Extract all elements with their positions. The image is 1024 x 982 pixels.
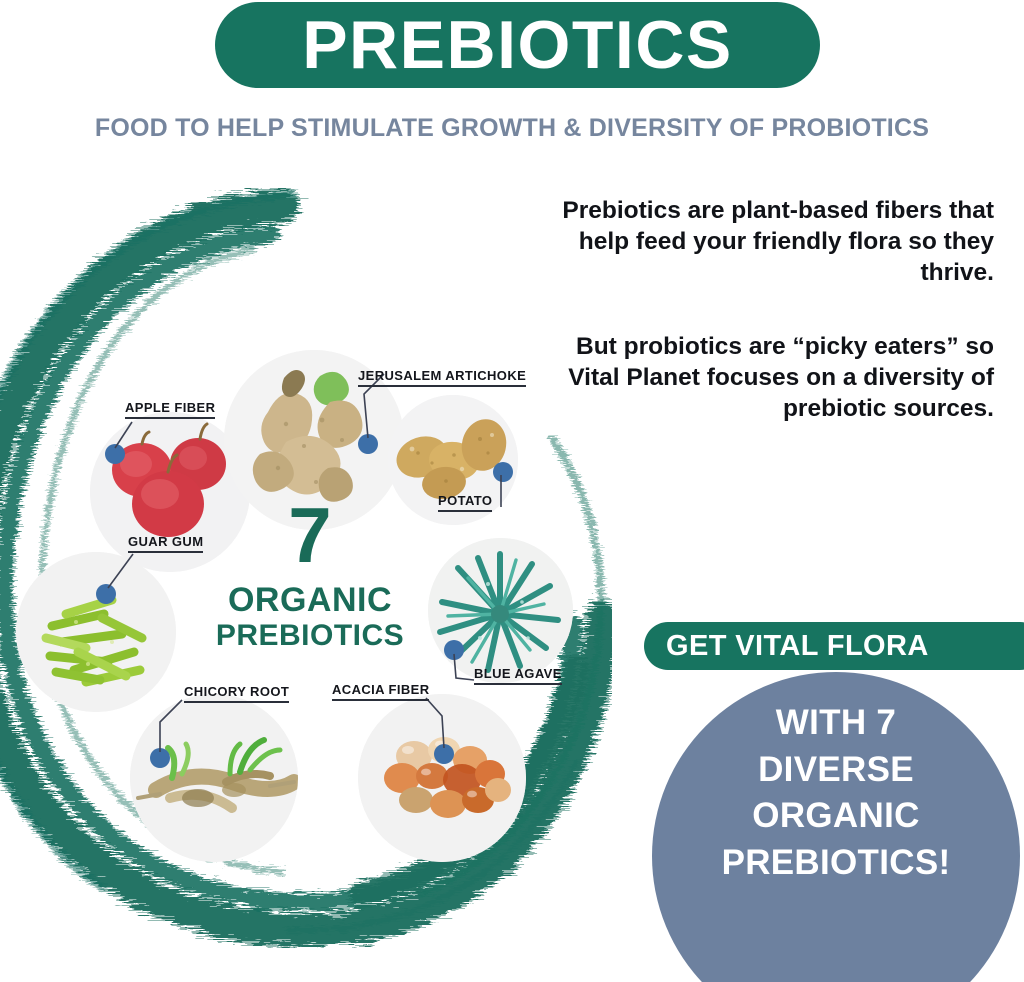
chicory-root-marker-dot (150, 748, 170, 768)
cta-line-4: PREBIOTICS! (652, 840, 1020, 887)
body-paragraph-2: But probiotics are “picky eaters” so Vit… (530, 332, 994, 425)
acacia-fiber-photo (358, 694, 526, 862)
blue-agave-marker-dot (444, 640, 464, 660)
guar-gum-label: GUAR GUM (128, 534, 203, 553)
guar-gum-marker-dot (96, 584, 116, 604)
apple-fiber-label: APPLE FIBER (125, 400, 215, 419)
infographic-canvas: PREBIOTICS FOOD TO HELP STIMULATE GROWTH… (0, 0, 1024, 982)
acacia-fiber-label: ACACIA FIBER (332, 682, 429, 701)
cta-line-3: ORGANIC (652, 793, 1020, 840)
potato-label: POTATO (438, 493, 492, 512)
ingredient-blue-agave: BLUE AGAVE (428, 538, 628, 698)
cta-line-2: DIVERSE (652, 747, 1020, 794)
jerusalem-artichoke-marker-dot (358, 434, 378, 454)
title-pill: PREBIOTICS (215, 2, 820, 88)
acacia-fiber-marker-dot (434, 744, 454, 764)
jerusalem-artichoke-label: JERUSALEM ARTICHOKE (358, 368, 526, 387)
potato-marker-dot (493, 462, 513, 482)
center-count: 7 (230, 500, 390, 572)
chicory-root-photo (130, 694, 298, 862)
ingredient-acacia-fiber: ACACIA FIBER (330, 680, 560, 860)
apple-fiber-marker-dot (105, 444, 125, 464)
cta-badge-text: WITH 7 DIVERSE ORGANIC PREBIOTICS! (652, 700, 1020, 886)
page-subtitle: FOOD TO HELP STIMULATE GROWTH & DIVERSIT… (0, 114, 1024, 143)
chicory-root-label: CHICORY ROOT (184, 684, 289, 703)
cta-banner-label: GET VITAL FLORA (666, 630, 929, 663)
body-paragraph-1: Prebiotics are plant-based fibers that h… (530, 196, 994, 289)
blue-agave-photo (428, 538, 573, 683)
cta-line-1: WITH 7 (652, 700, 1020, 747)
center-line-organic: ORGANIC (190, 582, 430, 619)
page-title: PREBIOTICS (302, 11, 733, 79)
center-line-prebiotics: PREBIOTICS (180, 620, 440, 652)
cta-banner[interactable]: GET VITAL FLORA (644, 622, 1024, 670)
